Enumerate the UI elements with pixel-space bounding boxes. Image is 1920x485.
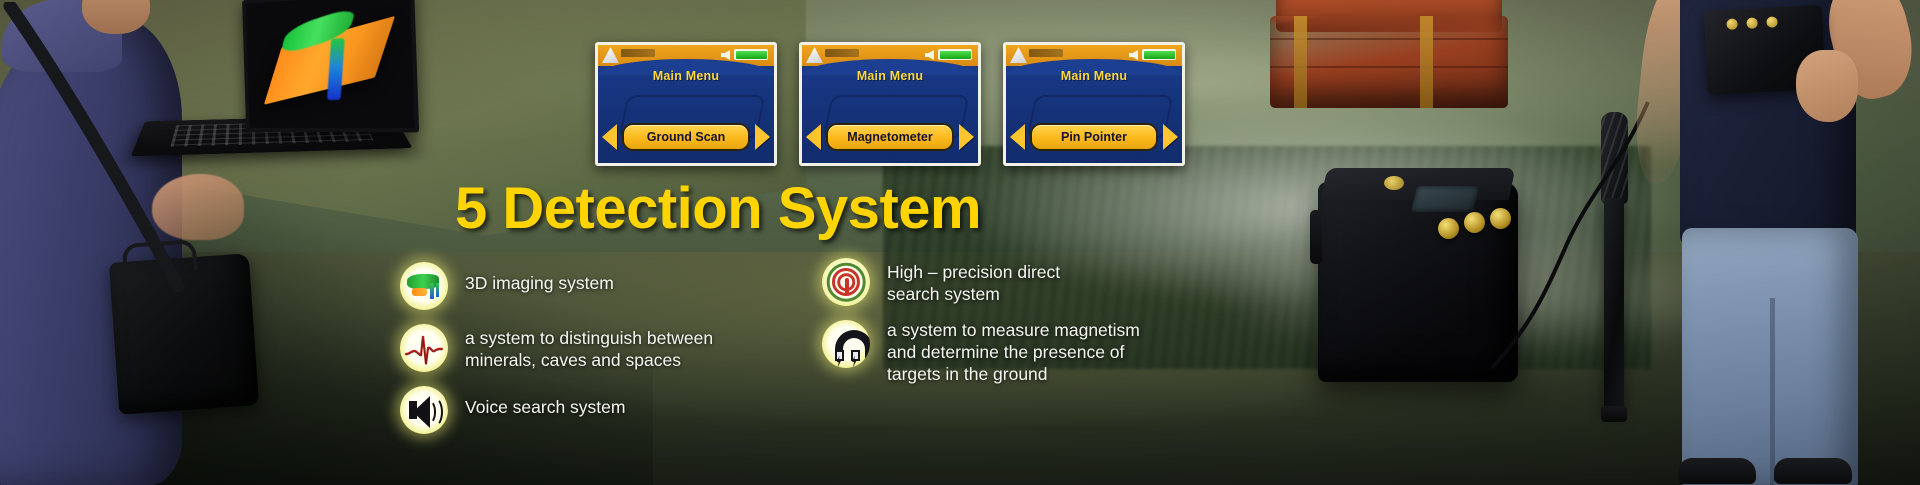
detector-control-unit xyxy=(1318,182,1518,382)
chest-body xyxy=(1270,16,1508,108)
detector-housing xyxy=(1318,182,1518,382)
panel-title: Main Menu xyxy=(802,69,978,83)
scan-blue-target xyxy=(327,38,345,100)
mode-button[interactable]: Pin Pointer xyxy=(1030,123,1158,151)
speaker-icon xyxy=(721,50,730,60)
scan-visualization xyxy=(251,0,408,122)
battery-icon xyxy=(734,49,768,60)
laptop xyxy=(140,0,410,166)
operator-jeans xyxy=(1682,228,1858,485)
panel-title: Main Menu xyxy=(1006,69,1182,83)
operator-shoe xyxy=(1678,458,1756,484)
laptop-screen xyxy=(242,0,419,132)
speaker-icon xyxy=(925,50,934,60)
shoulder-bag xyxy=(109,253,259,414)
feature-list-right: High – precision direct search system a … xyxy=(822,258,1222,400)
right-arrow-icon[interactable] xyxy=(755,124,770,150)
feature-label: a system to distinguish between minerals… xyxy=(465,324,713,372)
left-arrow-icon[interactable] xyxy=(806,124,821,150)
feature-item: 3D imaging system xyxy=(400,262,780,310)
brand-wordmark xyxy=(1029,49,1063,57)
feature-item: High – precision direct search system xyxy=(822,258,1222,306)
feature-list-left: 3D imaging system a system to distinguis… xyxy=(400,262,780,448)
menu-panel-pin-pointer[interactable]: Main Menu Pin Pointer xyxy=(1003,42,1185,166)
radar-signal-icon xyxy=(822,258,870,306)
page-title: 5 Detection System xyxy=(455,175,981,242)
mode-button[interactable]: Magnetometer xyxy=(826,123,954,151)
speaker-icon xyxy=(1129,50,1138,60)
brand-wordmark xyxy=(621,49,655,57)
detector-knob xyxy=(1438,218,1459,239)
left-arrow-icon[interactable] xyxy=(1010,124,1025,150)
panel-status-bar xyxy=(1006,45,1182,66)
feature-label: a system to measure magnetism and determ… xyxy=(887,320,1140,386)
panel-title: Main Menu xyxy=(598,69,774,83)
feature-item: Voice search system xyxy=(400,386,780,434)
operator-hand xyxy=(152,174,244,240)
panel-selector-row: Ground Scan xyxy=(598,123,774,151)
brand-logo-icon xyxy=(806,47,823,63)
operator-shoe xyxy=(1774,458,1852,484)
mode-button[interactable]: Ground Scan xyxy=(622,123,750,151)
detector-display xyxy=(1411,186,1479,212)
right-operator xyxy=(1620,0,1920,485)
waveform-icon xyxy=(400,324,448,372)
right-arrow-icon[interactable] xyxy=(959,124,974,150)
left-arrow-icon[interactable] xyxy=(602,124,617,150)
battery-icon xyxy=(938,49,972,60)
brand-logo-icon xyxy=(602,47,619,63)
treasure-chest xyxy=(1270,0,1508,110)
battery-icon xyxy=(1142,49,1176,60)
horseshoe-magnet-icon xyxy=(822,320,870,368)
feature-item: a system to distinguish between minerals… xyxy=(400,324,780,372)
right-arrow-icon[interactable] xyxy=(1163,124,1178,150)
detector-knob xyxy=(1490,208,1511,229)
3d-terrain-icon xyxy=(400,262,448,310)
panel-selector-row: Magnetometer xyxy=(802,123,978,151)
feature-label: High – precision direct search system xyxy=(887,258,1060,306)
brand-wordmark xyxy=(825,49,859,57)
feature-label: 3D imaging system xyxy=(465,262,614,295)
operator-hand xyxy=(1796,50,1858,122)
menu-panel-group: Main Menu Ground Scan Main Menu Magnetom… xyxy=(595,42,1185,166)
feature-label: Voice search system xyxy=(465,386,625,419)
panel-status-bar xyxy=(802,45,978,66)
menu-panel-magnetometer[interactable]: Main Menu Magnetometer xyxy=(799,42,981,166)
speaker-waves-icon xyxy=(400,386,448,434)
menu-panel-ground-scan[interactable]: Main Menu Ground Scan xyxy=(595,42,777,166)
detector-knob xyxy=(1464,212,1485,233)
feature-item: a system to measure magnetism and determ… xyxy=(822,320,1222,386)
promo-banner: Main Menu Ground Scan Main Menu Magnetom… xyxy=(0,0,1920,485)
detector-side-grip xyxy=(1310,210,1322,264)
detector-port-cap xyxy=(1384,176,1404,190)
panel-status-bar xyxy=(598,45,774,66)
brand-logo-icon xyxy=(1010,47,1027,63)
panel-selector-row: Pin Pointer xyxy=(1006,123,1182,151)
